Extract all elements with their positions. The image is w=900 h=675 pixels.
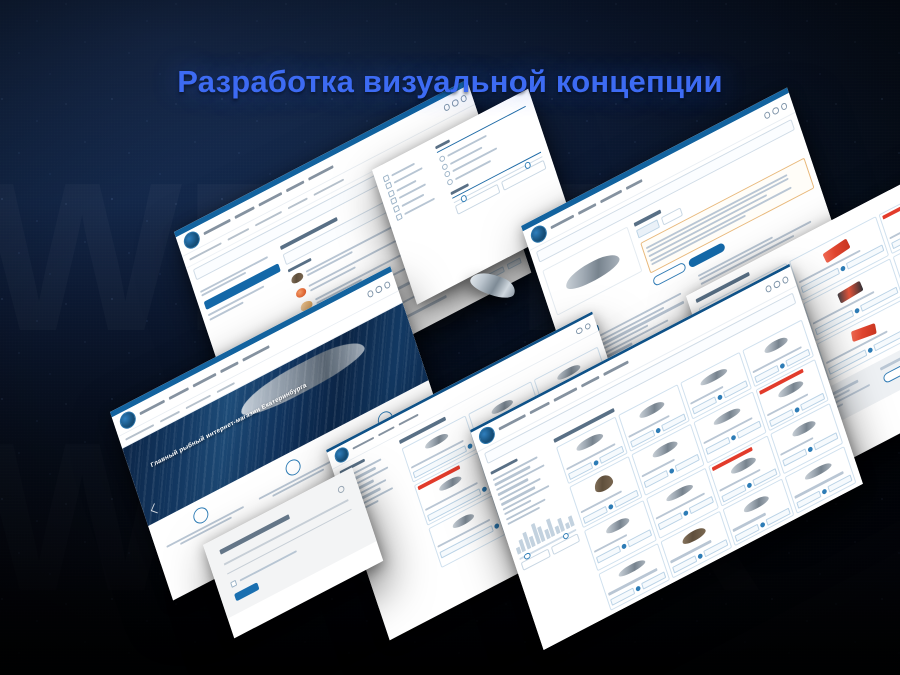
add-to-cart-icon[interactable] [717,394,723,401]
radio[interactable] [446,178,453,186]
checkbox[interactable] [395,213,402,221]
submit-button[interactable] [234,582,259,601]
add-to-cart-icon[interactable] [608,503,614,510]
header-icons[interactable] [763,102,788,120]
add-to-cart-icon[interactable] [697,553,703,560]
search-icon[interactable] [366,290,374,299]
checkbox[interactable] [390,197,397,205]
hero-prev-arrow[interactable] [151,503,161,513]
add-to-cart-icon[interactable] [621,543,627,550]
add-to-cart-icon[interactable] [481,486,487,493]
add-to-cart-icon[interactable] [854,307,860,314]
user-icon[interactable] [773,280,781,289]
user-icon[interactable] [451,99,459,108]
add-to-cart-icon[interactable] [683,510,689,517]
header-icons[interactable] [575,322,591,335]
add-to-cart-icon[interactable] [821,488,827,495]
search-icon[interactable] [763,111,771,120]
site-logo[interactable] [477,424,497,447]
user-icon[interactable] [375,285,383,294]
radio[interactable] [439,155,446,163]
radio[interactable] [444,170,451,178]
cart-icon[interactable] [383,281,391,290]
search-icon[interactable] [764,285,772,294]
add-to-cart-icon[interactable] [807,446,813,453]
checkbox[interactable] [385,182,392,190]
radio[interactable] [441,162,448,170]
consent-checkbox[interactable] [230,580,237,588]
user-icon[interactable] [772,107,780,116]
header-icons[interactable] [764,276,789,294]
add-to-cart-icon[interactable] [593,460,599,467]
add-to-cart-icon[interactable] [635,585,641,592]
checkbox[interactable] [388,189,395,197]
consent-label [240,550,297,581]
cart-icon[interactable] [781,276,789,285]
close-icon[interactable] [337,485,345,495]
product-image [563,249,622,294]
page-title: Разработка визуальной концепции [0,64,900,100]
checkbox[interactable] [393,205,400,213]
cart-icon[interactable] [780,102,788,111]
add-to-cart-icon[interactable] [467,443,473,450]
site-logo[interactable] [529,223,549,246]
add-to-cart-icon[interactable] [779,363,785,370]
add-to-cart-icon[interactable] [867,347,873,354]
search-icon[interactable] [443,103,451,112]
slide-canvas: WBSTR WBSTR [0,0,900,675]
add-to-cart-icon[interactable] [746,482,752,489]
mockup-deck: Главный рыбный интернет-магазин Екатерин… [0,0,900,675]
add-to-cart-icon[interactable] [730,434,736,441]
add-to-cart-icon[interactable] [655,427,661,434]
add-to-cart-icon[interactable] [493,523,499,530]
add-to-cart-icon[interactable] [669,467,675,474]
add-to-cart-icon[interactable] [794,406,800,413]
add-to-cart-icon[interactable] [840,266,846,273]
checkbox[interactable] [383,174,390,182]
add-to-cart-icon[interactable] [760,522,766,529]
search-icon[interactable] [575,326,583,335]
cart-icon[interactable] [584,322,592,331]
